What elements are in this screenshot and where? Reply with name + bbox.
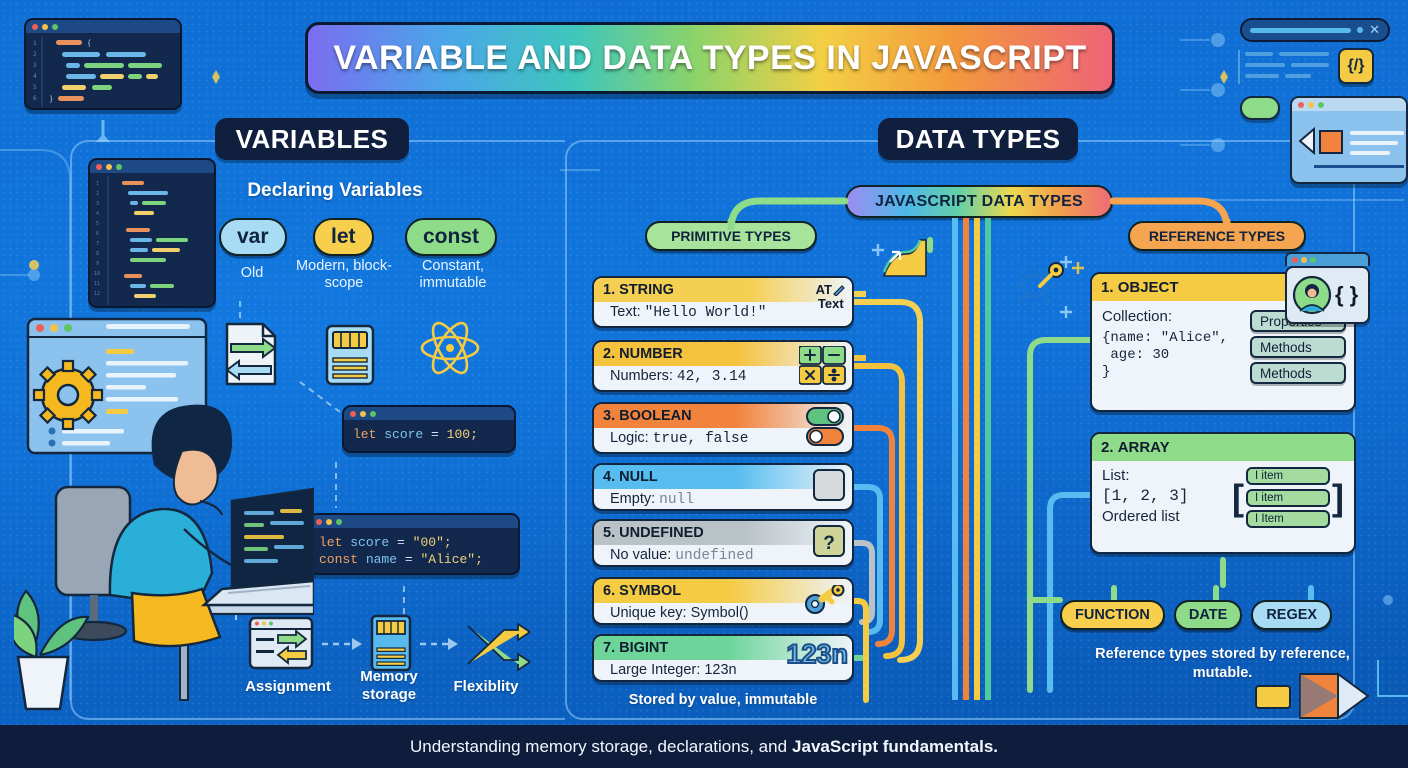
card-value: null [659, 492, 694, 508]
primitive-card-number[interactable]: 2. NUMBER Numbers: 42, 3.14 [592, 340, 854, 392]
code-lines-illustration: 123 456 { } [26, 33, 182, 110]
card-value: Symbol() [691, 605, 749, 621]
card-value: "Hello World!" [645, 305, 767, 321]
close-dot-icon [1292, 257, 1298, 263]
card-title: UNDEFINED [619, 525, 704, 541]
card-body: Large Integer: 123n 123n [594, 660, 852, 682]
card-index: 4. [603, 469, 615, 485]
pill-date[interactable]: DATE [1174, 600, 1242, 630]
variables-section-heading: VARIABLES [215, 118, 409, 160]
window-content-illustration [1292, 111, 1408, 184]
array-item-1[interactable]: I item [1246, 467, 1330, 485]
toggle-switches-icon [806, 407, 846, 451]
pill-function[interactable]: FUNCTION [1060, 600, 1165, 630]
card-index: 6. [603, 583, 615, 599]
decorative-search-bar[interactable]: ✕ [1240, 18, 1390, 42]
plant-illustration [14, 591, 88, 709]
empty-box-icon [813, 469, 845, 505]
card-value: true, false [653, 431, 749, 447]
minimize-dot-icon [42, 24, 48, 30]
maximize-dot-icon [1318, 102, 1324, 108]
primitive-card-bigint[interactable]: 7. BIGINT Large Integer: 123n 123n [592, 634, 854, 682]
card-desc-label: Empty: [610, 491, 655, 507]
laptop-illustration [204, 489, 314, 605]
developer-illustration [14, 305, 314, 725]
card-body: Numbers: 42, 3.14 [594, 366, 852, 390]
minimize-dot-icon [1308, 102, 1314, 108]
array-code: [1, 2, 3] [1102, 487, 1232, 505]
code-lines: let score = "00"; const name = "Alice"; [310, 528, 518, 574]
card-header: 2. ARRAY [1092, 434, 1354, 461]
code-braces-badge-icon: {/} [1338, 48, 1374, 84]
minimize-dot-icon [1301, 257, 1307, 263]
keyword-let-chip[interactable]: let [313, 218, 374, 256]
card-value: undefined [675, 548, 753, 564]
object-code: {name: "Alice", age: 30 } [1102, 330, 1250, 381]
card-value: 123n [704, 662, 736, 678]
declaring-variables-subheading: Declaring Variables [215, 180, 455, 202]
primitive-types-node[interactable]: PRIMITIVE TYPES [645, 221, 817, 251]
svg-text:{: { [88, 40, 91, 47]
card-index: 3. [603, 408, 615, 424]
card-body: No value: undefined ? [594, 545, 852, 567]
card-index: 7. [603, 640, 615, 656]
card-desc-label: No value: [610, 547, 671, 563]
svg-text:4: 4 [33, 73, 37, 80]
close-dot-icon [32, 24, 38, 30]
keyword-const-caption: Constant, immutable [398, 258, 508, 292]
maximize-dot-icon [336, 519, 342, 525]
maximize-dot-icon [370, 411, 376, 417]
bottom-right-decorations [1240, 660, 1408, 730]
close-icon[interactable]: ✕ [1369, 22, 1380, 38]
close-dot-icon [350, 411, 356, 417]
card-index: 2. [1101, 439, 1114, 456]
card-title: NUMBER [619, 346, 683, 362]
footer-bold-text: JavaScript fundamentals. [792, 737, 998, 757]
keyword-var-chip[interactable]: var [219, 218, 287, 256]
avatar-braces-icon: { } [1285, 266, 1370, 324]
page-title: VARIABLE AND DATA TYPES IN JAVASCRIPT [333, 39, 1086, 78]
primitive-types-note: Stored by value, immutable [592, 692, 854, 708]
tag-methods-2[interactable]: Methods [1250, 362, 1346, 384]
code-line: let score = 100; [344, 420, 514, 449]
card-desc-label: Large Integer: [610, 662, 700, 678]
svg-text:2: 2 [33, 51, 37, 58]
maximize-dot-icon [52, 24, 58, 30]
reference-types-node[interactable]: REFERENCE TYPES [1128, 221, 1306, 251]
card-header: 1. STRING [594, 278, 852, 302]
primitive-card-boolean[interactable]: 3. BOOLEAN Logic: true, false [592, 402, 854, 454]
svg-text:}: } [50, 96, 53, 103]
decorative-green-pill [1240, 96, 1280, 120]
page-title-banner: VARIABLE AND DATA TYPES IN JAVASCRIPT [305, 22, 1115, 94]
decorative-window-right [1290, 96, 1408, 184]
bigint-123n-icon: 123n [786, 639, 848, 670]
svg-text:1: 1 [33, 40, 37, 47]
card-body: Logic: true, false [594, 428, 852, 452]
card-title: NULL [619, 469, 658, 485]
keyword-var-caption: Old [214, 265, 290, 282]
footer-text: Understanding memory storage, declaratio… [410, 737, 787, 757]
card-title: SYMBOL [619, 583, 681, 599]
card-desc-label: Unique key: [610, 605, 687, 621]
card-title: STRING [619, 282, 674, 298]
minimize-dot-icon [326, 519, 332, 525]
card-body: Text: "Hello World!" ATText [594, 302, 852, 326]
card-index: 5. [603, 525, 615, 541]
card-desc-label: Logic: [610, 430, 649, 446]
datatypes-section-heading: DATA TYPES [878, 118, 1078, 160]
primitive-card-undefined[interactable]: 5. UNDEFINED No value: undefined ? [592, 519, 854, 567]
at-text-icon: ATText [816, 283, 846, 311]
reference-card-array[interactable]: 2. ARRAY List: [1, 2, 3] Ordered list [ … [1090, 432, 1356, 554]
card-body: Unique key: Symbol() [594, 603, 852, 625]
svg-text:5: 5 [33, 84, 37, 91]
key-icon [804, 585, 846, 619]
card-title: OBJECT [1118, 279, 1179, 296]
keyword-const-chip[interactable]: const [405, 218, 497, 256]
svg-text:3: 3 [33, 62, 37, 69]
reference-extra-pills: FUNCTION DATE REGEX [1060, 600, 1360, 630]
primitive-card-symbol[interactable]: 6. SYMBOL Unique key: Symbol() [592, 577, 854, 625]
close-dot-icon [1298, 102, 1304, 108]
svg-text:6: 6 [33, 95, 37, 102]
code-snippet-window-1: let score = 100; [342, 405, 516, 453]
window-titlebar [310, 515, 518, 528]
calculator-ops-icon [799, 346, 847, 390]
close-dot-icon [316, 519, 322, 525]
card-value: 42, 3.14 [677, 369, 747, 385]
primitive-card-string[interactable]: 1. STRING Text: "Hello World!" ATText [592, 276, 854, 328]
window-titlebar [26, 20, 180, 33]
root-node-javascript-data-types[interactable]: JAVASCRIPT DATA TYPES [845, 185, 1113, 218]
badge-window-titlebar [1285, 252, 1370, 266]
card-desc-label: Numbers: [610, 368, 673, 384]
card-title: BOOLEAN [619, 408, 692, 424]
minimize-dot-icon [360, 411, 366, 417]
card-body: Empty: null [594, 489, 852, 511]
card-desc-label: Text: [610, 304, 641, 320]
card-index: 1. [1101, 279, 1114, 296]
card-title: BIGINT [619, 640, 668, 656]
card-body: List: [1, 2, 3] Ordered list [ I item I … [1092, 461, 1354, 533]
code-snippet-window-2: let score = "00"; const name = "Alice"; [308, 513, 520, 575]
pill-regex[interactable]: REGEX [1251, 600, 1332, 630]
window-titlebar [344, 407, 514, 420]
question-mark-icon: ? [813, 525, 845, 561]
avatar-icon [1292, 275, 1332, 315]
infographic-canvas: 123 456 { } [0, 0, 1408, 768]
maximize-dot-icon [1310, 257, 1316, 263]
decorative-code-window-topleft: 123 456 { } [24, 18, 182, 110]
object-desc-label: Collection: [1102, 308, 1250, 325]
decorative-text-lines [1235, 50, 1340, 92]
svg-text:?: ? [823, 533, 835, 554]
card-title: ARRAY [1118, 439, 1170, 456]
flow-label-memory-storage: Memory storage [340, 668, 438, 704]
braces-icon: { } [1335, 282, 1358, 308]
footer-caption: Understanding memory storage, declaratio… [0, 725, 1408, 768]
primitive-card-null[interactable]: 4. NULL Empty: null [592, 463, 854, 511]
card-index: 1. [603, 282, 615, 298]
card-index: 2. [603, 346, 615, 362]
array-desc-label: List: [1102, 467, 1232, 484]
dot-icon [1357, 27, 1363, 33]
array-items-visual: [ I item I item I Item ] [1232, 467, 1346, 528]
array-extra-label: Ordered list [1102, 508, 1232, 525]
tag-methods-1[interactable]: Methods [1250, 336, 1346, 358]
window-titlebar [1292, 98, 1406, 111]
keyword-let-caption: Modern, block-scope [296, 258, 392, 292]
array-item-2[interactable]: I item [1246, 489, 1330, 507]
flow-label-flexiblity: Flexiblity [438, 678, 534, 696]
array-item-3[interactable]: I Item [1246, 510, 1330, 528]
